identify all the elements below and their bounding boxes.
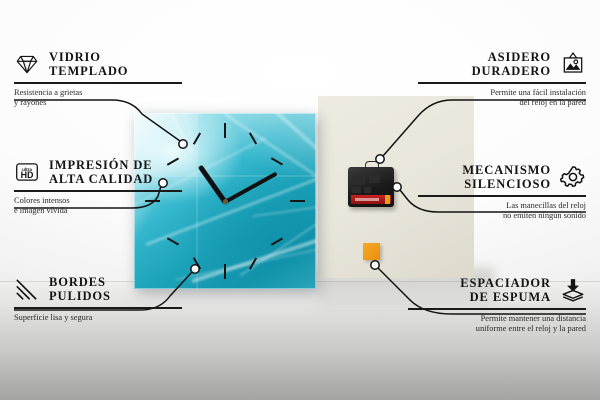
feature-desc-line1: Las manecillas del reloj: [418, 201, 586, 211]
feature-heading-row: VIDRIO TEMPLADO: [14, 50, 182, 78]
feature-title: IMPRESIÓN DE ALTA CALIDAD: [49, 158, 153, 186]
connector-dot-bordes: [191, 265, 199, 273]
feature-desc-line1: Colores intensos: [14, 196, 182, 206]
feature-divider: [418, 82, 586, 84]
feature-heading-row: ASIDERO DURADERO: [418, 50, 586, 78]
feature-desc-line1: Resistencia a grietas: [14, 88, 182, 98]
gear-icon: [560, 164, 586, 190]
connector-dot-mecanismo: [393, 183, 401, 191]
feature-desc-line2: e imagen vívida: [14, 206, 182, 216]
feature-divider: [408, 308, 586, 310]
feature-divider: [14, 190, 182, 192]
feature-desc-line2: no emiten ningún sonido: [418, 211, 586, 221]
feature-title: MECANISMO SILENCIOSO: [462, 163, 551, 191]
feature-description: Resistencia a grietas y rayones: [14, 88, 182, 108]
diamond-icon: [14, 51, 40, 77]
feature-divider: [418, 195, 586, 197]
feature-heading-row: BORDES PULIDOS: [14, 275, 182, 303]
feature-heading-row: ultra HD IMPRESIÓN DE ALTA CALIDAD: [14, 158, 182, 186]
feature-title: VIDRIO TEMPLADO: [49, 50, 128, 78]
feature-title-line2: PULIDOS: [49, 289, 111, 303]
feature-title-line2: SILENCIOSO: [462, 177, 551, 191]
infographic-canvas: VIDRIO TEMPLADO Resistencia a grietas y …: [0, 0, 600, 400]
feature-description: Permite una fácil instalación del reloj …: [418, 88, 586, 108]
connector-dot-vidrio: [179, 140, 187, 148]
feature-title-line2: TEMPLADO: [49, 64, 128, 78]
feature-title-line1: VIDRIO: [49, 50, 128, 64]
foam-spacer-icon: [560, 277, 586, 303]
hanging-frame-icon: [560, 51, 586, 77]
ultra-hd-icon: ultra HD: [14, 159, 40, 185]
feature-description: Colores intensos e imagen vívida: [14, 196, 182, 216]
feature-description: Superficie lisa y segura: [14, 313, 182, 323]
feature-mecanismo-silencioso: MECANISMO SILENCIOSO Las manecillas del …: [418, 163, 586, 221]
feature-vidrio-templado: VIDRIO TEMPLADO Resistencia a grietas y …: [14, 50, 182, 108]
feature-divider: [14, 82, 182, 84]
feature-title-line2: ALTA CALIDAD: [49, 172, 153, 186]
feature-desc-line2: del reloj en la pared: [418, 98, 586, 108]
feature-desc-line2: uniforme entre el reloj y la pared: [408, 324, 586, 334]
connector-dot-asidero: [376, 155, 384, 163]
feature-title: ESPACIADOR DE ESPUMA: [460, 276, 551, 304]
feature-title: ASIDERO DURADERO: [472, 50, 551, 78]
feature-desc-line2: y rayones: [14, 98, 182, 108]
feature-title-line1: IMPRESIÓN DE: [49, 158, 153, 172]
feature-desc-line1: Superficie lisa y segura: [14, 313, 182, 323]
connector-asidero: [383, 100, 586, 156]
feature-title-line1: ASIDERO: [472, 50, 551, 64]
feature-asidero-duradero: ASIDERO DURADERO Permite una fácil insta…: [418, 50, 586, 108]
feature-bordes-pulidos: BORDES PULIDOS Superficie lisa y segura: [14, 275, 182, 323]
feature-espaciador-de-espuma: ESPACIADOR DE ESPUMA Permite mantener un…: [408, 276, 586, 334]
feature-impresion-alta-calidad: ultra HD IMPRESIÓN DE ALTA CALIDAD Color…: [14, 158, 182, 216]
feature-title: BORDES PULIDOS: [49, 275, 111, 303]
feature-desc-line1: Permite mantener una distancia: [408, 314, 586, 324]
connector-dot-espaciador: [371, 261, 379, 269]
feature-title-line2: DE ESPUMA: [460, 290, 551, 304]
feature-desc-line1: Permite una fácil instalación: [418, 88, 586, 98]
feature-title-line2: DURADERO: [472, 64, 551, 78]
feature-divider: [14, 307, 182, 309]
feature-title-line1: BORDES: [49, 275, 111, 289]
feature-title-line1: MECANISMO: [462, 163, 551, 177]
feature-title-line1: ESPACIADOR: [460, 276, 551, 290]
polished-edges-icon: [14, 276, 40, 302]
feature-description: Las manecillas del reloj no emiten ningú…: [418, 201, 586, 221]
feature-heading-row: MECANISMO SILENCIOSO: [418, 163, 586, 191]
feature-heading-row: ESPACIADOR DE ESPUMA: [408, 276, 586, 304]
ultra-hd-icon-large-text: HD: [21, 170, 34, 180]
feature-description: Permite mantener una distancia uniforme …: [408, 314, 586, 334]
